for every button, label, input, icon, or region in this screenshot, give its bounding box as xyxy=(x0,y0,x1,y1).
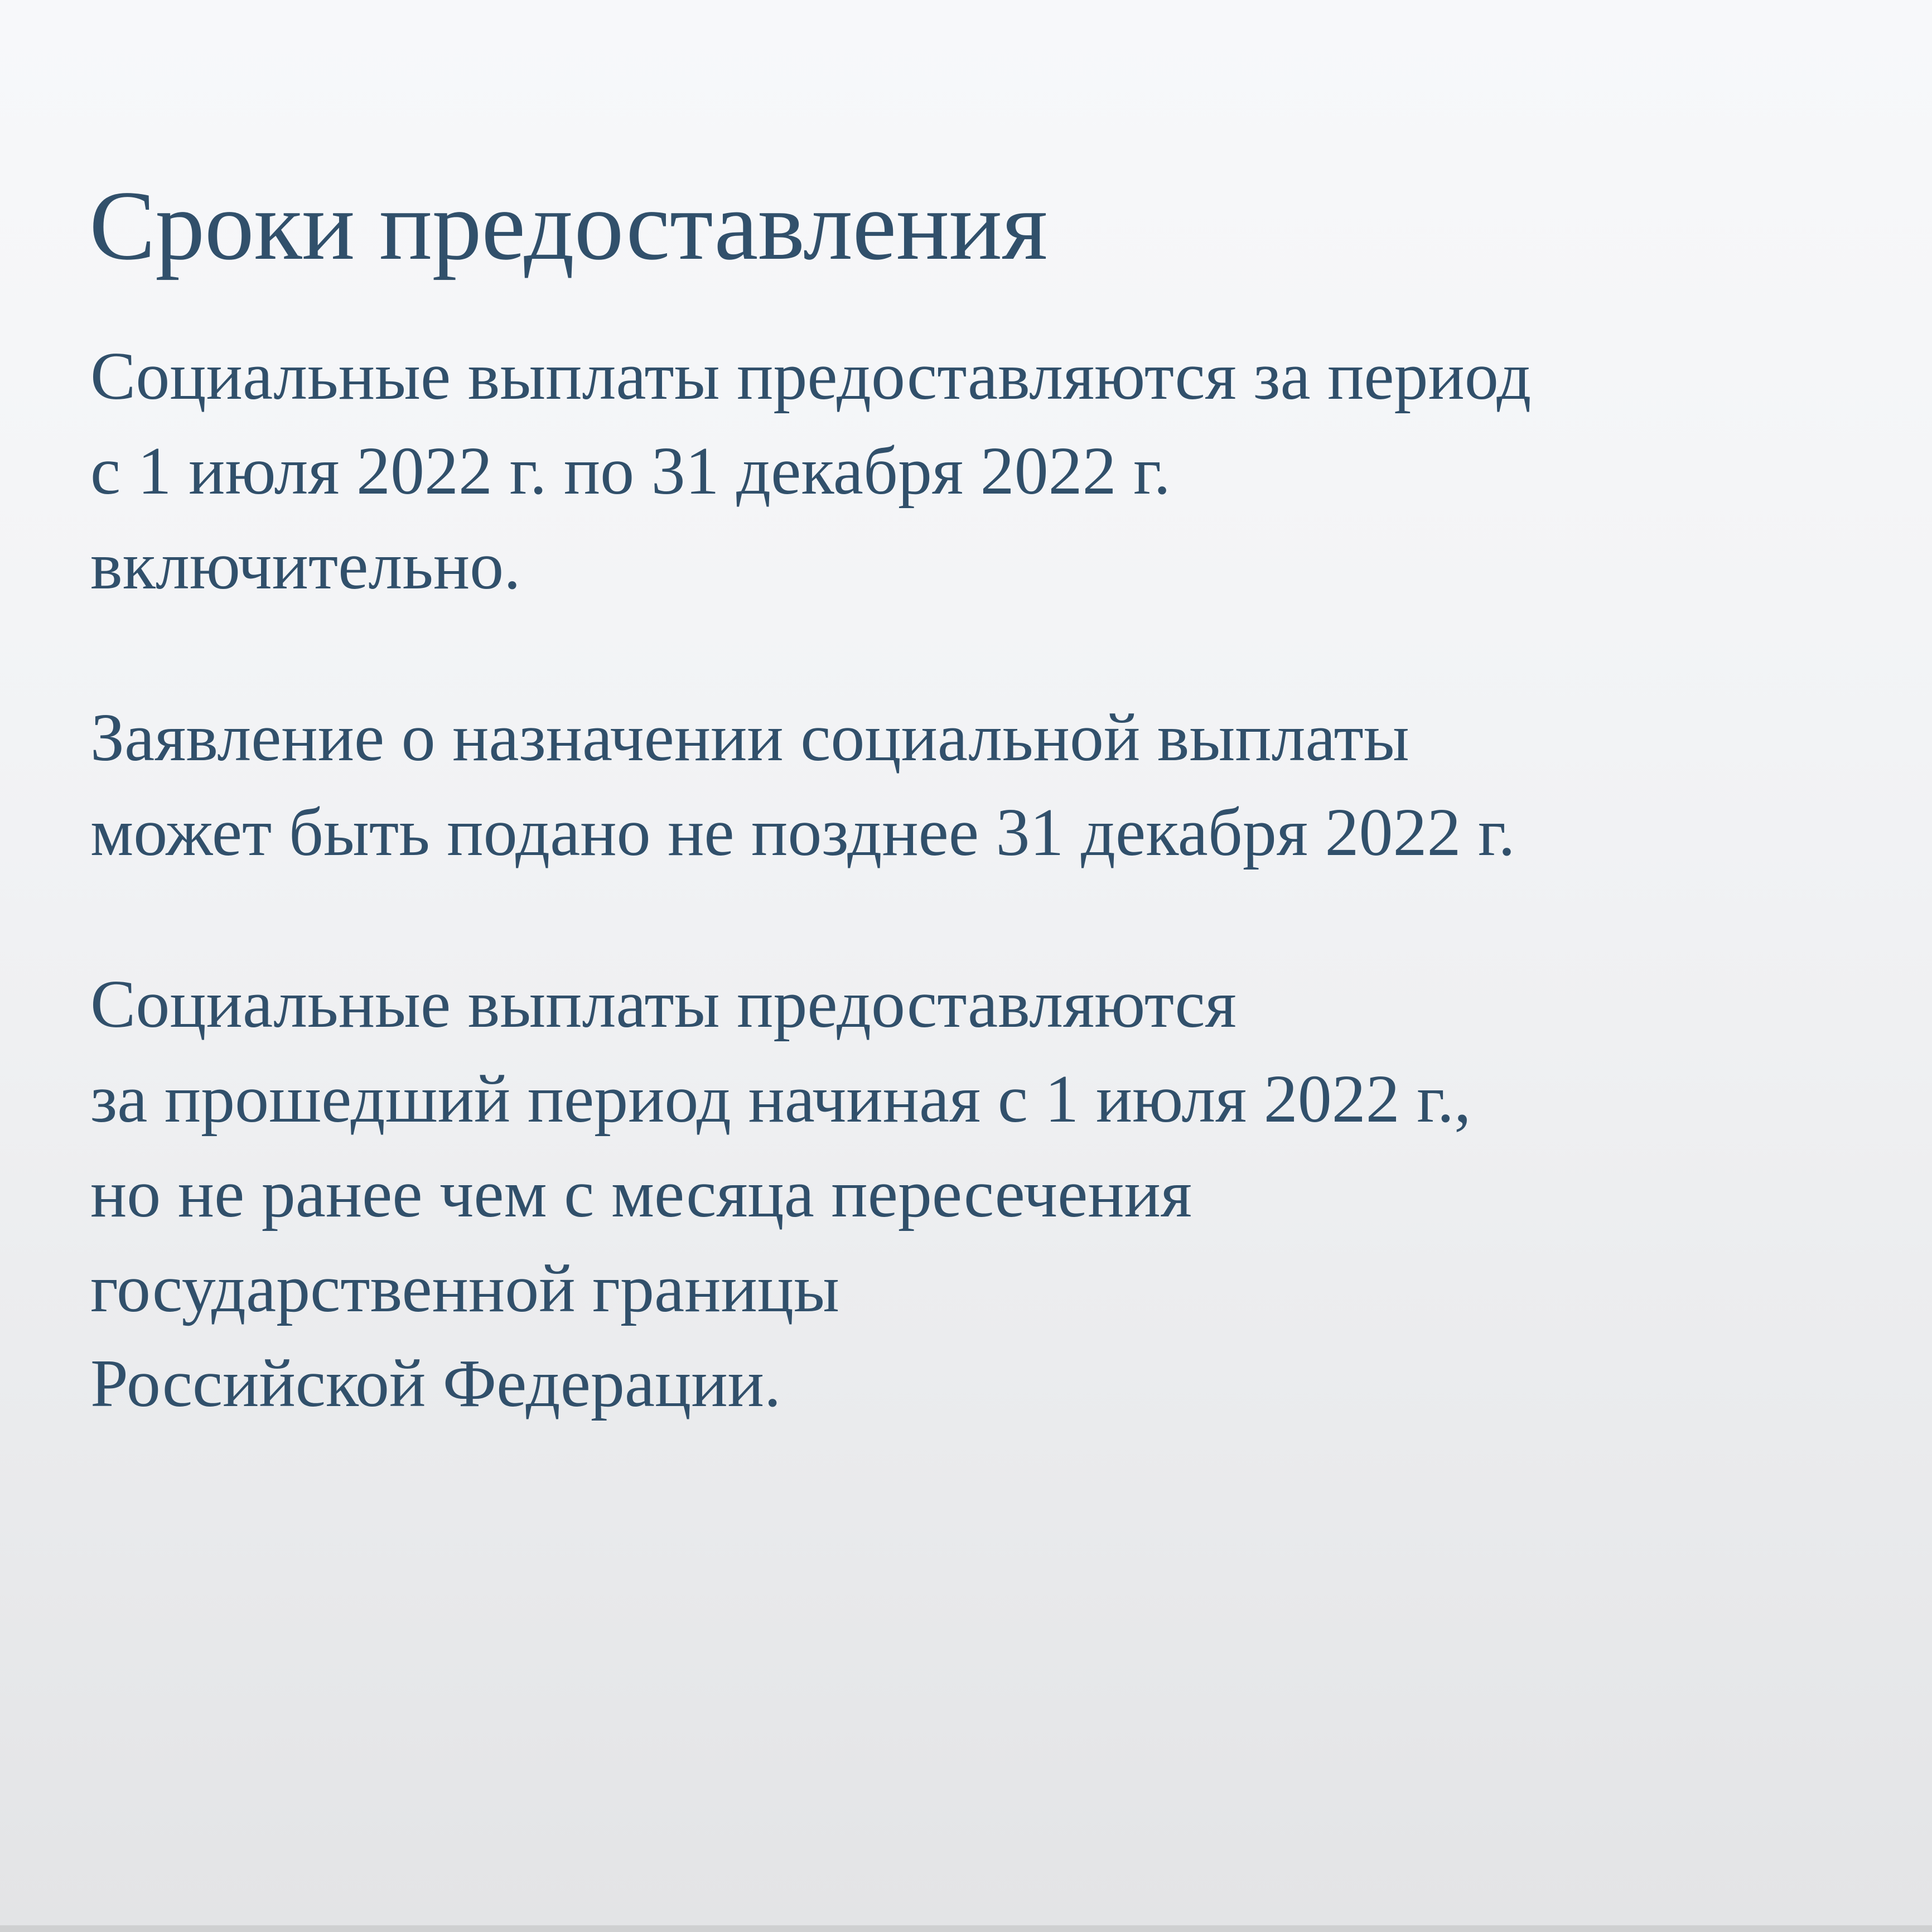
paragraph-application-deadline: Заявление о назначении социальной выплат… xyxy=(90,690,1875,880)
paragraph-line: государственной границы xyxy=(90,1242,1875,1336)
paragraph-line: Социальные выплаты предоставляются xyxy=(90,957,1875,1052)
paragraph-line: но не ранее чем с месяца пересечения xyxy=(90,1147,1875,1242)
paragraph-line: с 1 июля 2022 г. по 31 декабря 2022 г. xyxy=(90,424,1875,519)
paragraph-line: за прошедший период начиная с 1 июля 202… xyxy=(90,1052,1875,1147)
slide-canvas: Сроки предоставления Социальные выплаты … xyxy=(0,0,1932,1932)
slide-body: Социальные выплаты предоставляются за пе… xyxy=(90,329,1875,1431)
paragraph-retroactive-payments: Социальные выплаты предоставляются за пр… xyxy=(90,957,1875,1431)
page-title: Сроки предоставления xyxy=(89,176,1818,275)
bottom-edge-strip xyxy=(0,1925,1932,1932)
paragraph-line: включительно. xyxy=(90,519,1875,614)
paragraph-payment-period: Социальные выплаты предоставляются за пе… xyxy=(90,329,1875,614)
paragraph-line: Социальные выплаты предоставляются за пе… xyxy=(90,329,1875,424)
paragraph-line: Российской Федерации. xyxy=(90,1336,1875,1431)
paragraph-line: может быть подано не позднее 31 декабря … xyxy=(90,785,1875,880)
paragraph-line: Заявление о назначении социальной выплат… xyxy=(90,690,1875,785)
